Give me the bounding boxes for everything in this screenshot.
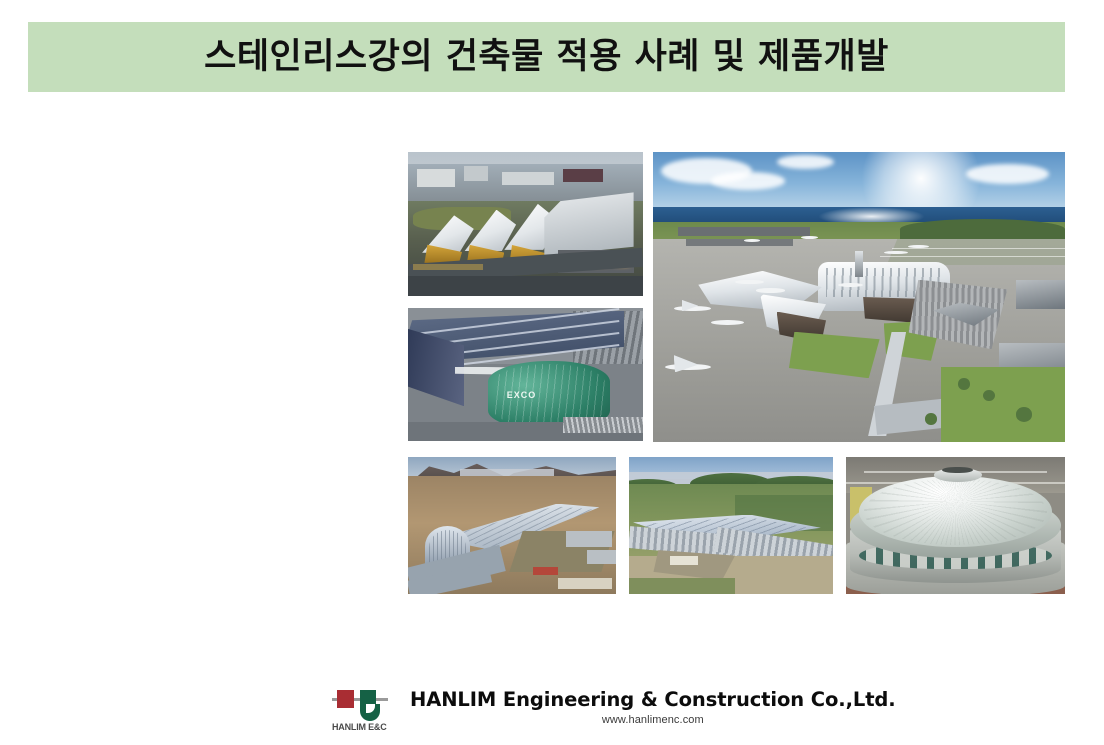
site-building [566,531,612,547]
photo-gallery: EXCO [0,0,1104,745]
company-name: HANLIM Engineering & Construction Co.,Lt… [410,688,896,711]
tree [1016,407,1032,422]
tree [925,413,937,425]
office-building [1016,280,1065,309]
road-marking [413,264,484,270]
photo-gwangmyeong-ktx-station [408,457,616,594]
tree [958,378,970,390]
photo-dome-gymnasium [846,457,1065,594]
footer-content: HANLIM E&C HANLIM Engineering & Construc… [332,686,896,738]
background-signboard [563,169,603,182]
dome-scene [846,457,1065,594]
exco-scene: EXCO [408,308,643,441]
aircraft [838,283,863,287]
photo-exco-exhibition-center: EXCO [408,308,643,441]
foreground-road [408,276,643,296]
company-website[interactable]: www.hanlimenc.com [602,714,704,726]
remote-pier [686,239,793,246]
red-roof-building [533,567,558,575]
airport-scene [653,152,1065,442]
photo-bexco-convention-center [408,152,643,296]
logo-red-square-shape [337,690,354,708]
bexco-scene [408,152,643,296]
remote-pier [678,227,810,236]
grass-strip [629,578,735,594]
aircraft [744,239,760,242]
site-building [558,578,612,589]
tree-line [900,219,1065,239]
hanlim-logo-icon: HANLIM E&C [332,686,400,738]
dome-panel-seams [864,479,1048,545]
logo-green-block-shape [360,690,376,704]
aircraft [756,288,785,293]
slide-footer: HANLIM E&C HANLIM Engineering & Construc… [0,686,1104,745]
footer-text-block: HANLIM Engineering & Construction Co.,Lt… [410,686,896,726]
scaffolding [563,417,643,433]
control-tower [855,251,863,277]
station2-scene [629,457,833,594]
photo-ktx-station-platform [629,457,833,594]
runway [887,239,1065,265]
exco-building-label: EXCO [507,390,537,400]
station1-scene [408,457,616,594]
cloud [711,172,785,189]
logo-caption: HANLIM E&C [332,722,400,732]
background-building [464,166,488,180]
aircraft [801,236,817,239]
site-building [587,550,616,564]
logo-green-hook-shape [360,704,380,721]
background-building [417,169,455,186]
background-building [502,172,554,185]
runway-marking [880,256,1065,257]
photo-incheon-airport-terminal [653,152,1065,442]
entrance-structure [670,556,699,566]
distant-city [460,469,554,476]
